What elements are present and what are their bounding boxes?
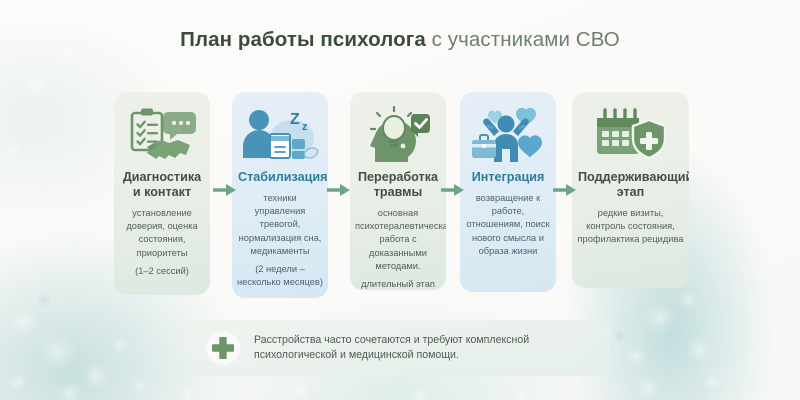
- stage-card-pererabotka-travmy[interactable]: Переработка травмы основная психотералев…: [350, 92, 446, 290]
- stage-title-line2: травмы: [374, 185, 423, 199]
- speech-bubble-icon: [163, 112, 196, 140]
- page-title: План работы психолога с участниками СВО: [0, 27, 800, 53]
- arrow-right-icon: [213, 184, 236, 196]
- stages-row: Диагностика и контакт установление довер…: [114, 92, 689, 300]
- stage-title-podderzhka: Поддерживающий этап: [576, 170, 685, 200]
- stage-card-podderzhivayushchiy-etap[interactable]: Поддерживающий этап редкие визиты, контр…: [572, 92, 689, 288]
- stage-title-integraciya: Интеграция: [464, 170, 552, 185]
- shield-plus-icon: [633, 120, 665, 158]
- stage-icon-pererabotka: [354, 104, 442, 166]
- arrow-3-to-4: [441, 183, 464, 195]
- stage-icon-diagnostika: [118, 104, 206, 166]
- stage-title-pererabotka: Переработка травмы: [354, 170, 442, 200]
- stage-icon-podderzhka: [576, 104, 685, 166]
- stage-title-line1: Переработка: [358, 170, 438, 184]
- handshake-icon: [147, 140, 190, 159]
- arrow-right-icon: [441, 184, 464, 196]
- stage-title-line1: Диагностика: [123, 170, 201, 184]
- svg-text:Z: Z: [290, 111, 300, 128]
- arrow-2-to-3: [327, 183, 350, 195]
- stage-body-text: установление доверия, оценка состояния, …: [126, 208, 197, 258]
- stage-icon-integraciya: [464, 104, 552, 166]
- person-icon: Z z: [240, 106, 320, 164]
- stage-body-integraciya: возвращение к работе, отношениям, поиск …: [464, 192, 552, 258]
- stage-title-line2: этап: [617, 185, 645, 199]
- banner-text: Расстройства часто сочетаются и требуют …: [254, 333, 529, 364]
- page-title-light: с участниками СВО: [426, 28, 620, 51]
- person-arms-raised-icon: [470, 106, 546, 164]
- banner-icon-circle: [206, 331, 240, 365]
- stage-title-stabilizaciya: Стабилизация: [236, 170, 324, 185]
- note-banner: Расстройства часто сочетаются и требуют …: [190, 320, 610, 376]
- stage-body-pererabotka: основная психотералевтическая работа с д…: [354, 207, 442, 290]
- briefcase-icon: [472, 135, 496, 158]
- arrow-right-icon: [327, 184, 350, 196]
- stage-title-diagnostika: Диагностика и контакт: [118, 170, 206, 200]
- stage-body-podderzhka: редкие визиты, контроль состояния, профи…: [576, 207, 685, 247]
- arrow-1-to-2: [213, 183, 236, 195]
- banner-line-1: Расстройства часто сочетаются и требуют …: [254, 333, 529, 349]
- thought-dot: [401, 144, 406, 149]
- stage-body-text: техники управления тревогой, нормализаци…: [239, 193, 322, 256]
- heart-icon-large: [518, 135, 542, 157]
- arrow-4-to-5: [553, 183, 576, 195]
- stage-title-line2: и контакт: [133, 185, 191, 199]
- stage-body-stabilizaciya: техники управления тревогой, нормализаци…: [236, 192, 324, 289]
- stage-card-integraciya[interactable]: Интеграция возвращение к работе, отношен…: [460, 92, 556, 292]
- stage-body-sub: (2 недели – несколько месяцев): [237, 263, 323, 289]
- stage-body-diagnostika: установление доверия, оценка состояния, …: [118, 207, 206, 278]
- stage-body-text: возвращение к работе, отношениям, поиск …: [466, 193, 549, 256]
- page-title-strong: План работы психолога: [180, 28, 426, 51]
- head-profile-icon: [363, 106, 433, 164]
- medical-cross-icon: [212, 337, 234, 359]
- stage-card-stabilizaciya[interactable]: Z z Стабилизация техники управления трев…: [232, 92, 328, 298]
- stage-body-text: основная психотералевтическая работа с д…: [355, 208, 446, 271]
- stage-body-sub: (1–2 сессий): [119, 265, 205, 278]
- stage-body-text: редкие визиты, контроль состояния, профи…: [578, 208, 684, 244]
- svg-text:z: z: [302, 121, 308, 133]
- stage-title-line1: Поддерживающий: [578, 170, 689, 184]
- stage-icon-stabilizaciya: Z z: [236, 104, 324, 166]
- banner-line-2: психологической и медицинской помощи.: [254, 348, 529, 364]
- stage-body-sub: длительный этап: [355, 278, 441, 290]
- calendar-icon: [591, 106, 671, 164]
- clipboard-checklist-icon: [125, 106, 199, 164]
- arrow-right-icon: [553, 184, 576, 196]
- stage-card-diagnostika[interactable]: Диагностика и контакт установление довер…: [114, 92, 210, 295]
